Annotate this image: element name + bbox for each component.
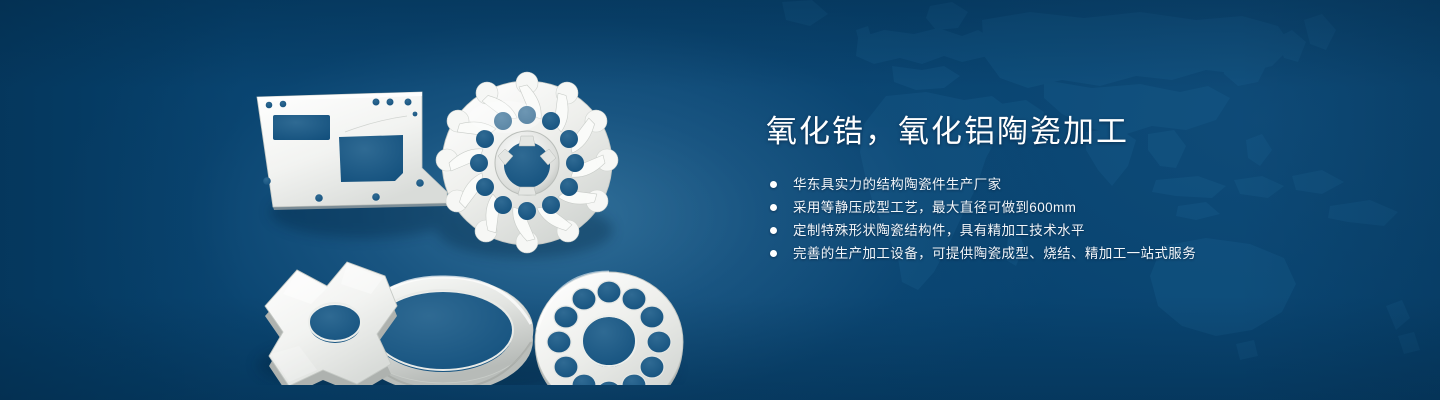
feature-text: 华东具实力的结构陶瓷件生产厂家	[793, 177, 1002, 192]
list-item: 完善的生产加工设备，可提供陶瓷成型、烧结、精加工一站式服务	[770, 247, 1326, 261]
feature-text: 采用等静压成型工艺，最大直径可做到600mm	[793, 200, 1076, 215]
feature-text: 完善的生产加工设备，可提供陶瓷成型、烧结、精加工一站式服务	[793, 246, 1196, 261]
list-item: 定制特殊形状陶瓷结构件，具有精加工技术水平	[770, 224, 1326, 238]
bullet-dot-icon	[770, 204, 777, 211]
list-item: 华东具实力的结构陶瓷件生产厂家	[770, 178, 1326, 192]
ceramic-cross-plate	[265, 262, 397, 385]
bullet-dot-icon	[770, 250, 777, 257]
ceramic-perforated-disc	[535, 272, 683, 385]
feature-list: 华东具实力的结构陶瓷件生产厂家 采用等静压成型工艺，最大直径可做到600mm 定…	[770, 178, 1326, 261]
ceramic-mounting-plate	[257, 92, 447, 210]
bullet-dot-icon	[770, 227, 777, 234]
list-item: 采用等静压成型工艺，最大直径可做到600mm	[770, 201, 1326, 215]
product-photo-group	[225, 40, 725, 385]
hero-banner: 氧化锆，氧化铝陶瓷加工 华东具实力的结构陶瓷件生产厂家 采用等静压成型工艺，最大…	[0, 0, 1440, 400]
page-title: 氧化锆，氧化铝陶瓷加工	[766, 112, 1326, 152]
feature-text: 定制特殊形状陶瓷结构件，具有精加工技术水平	[793, 223, 1085, 238]
banner-copy: 氧化锆，氧化铝陶瓷加工 华东具实力的结构陶瓷件生产厂家 采用等静压成型工艺，最大…	[766, 112, 1326, 270]
bullet-dot-icon	[770, 181, 777, 188]
